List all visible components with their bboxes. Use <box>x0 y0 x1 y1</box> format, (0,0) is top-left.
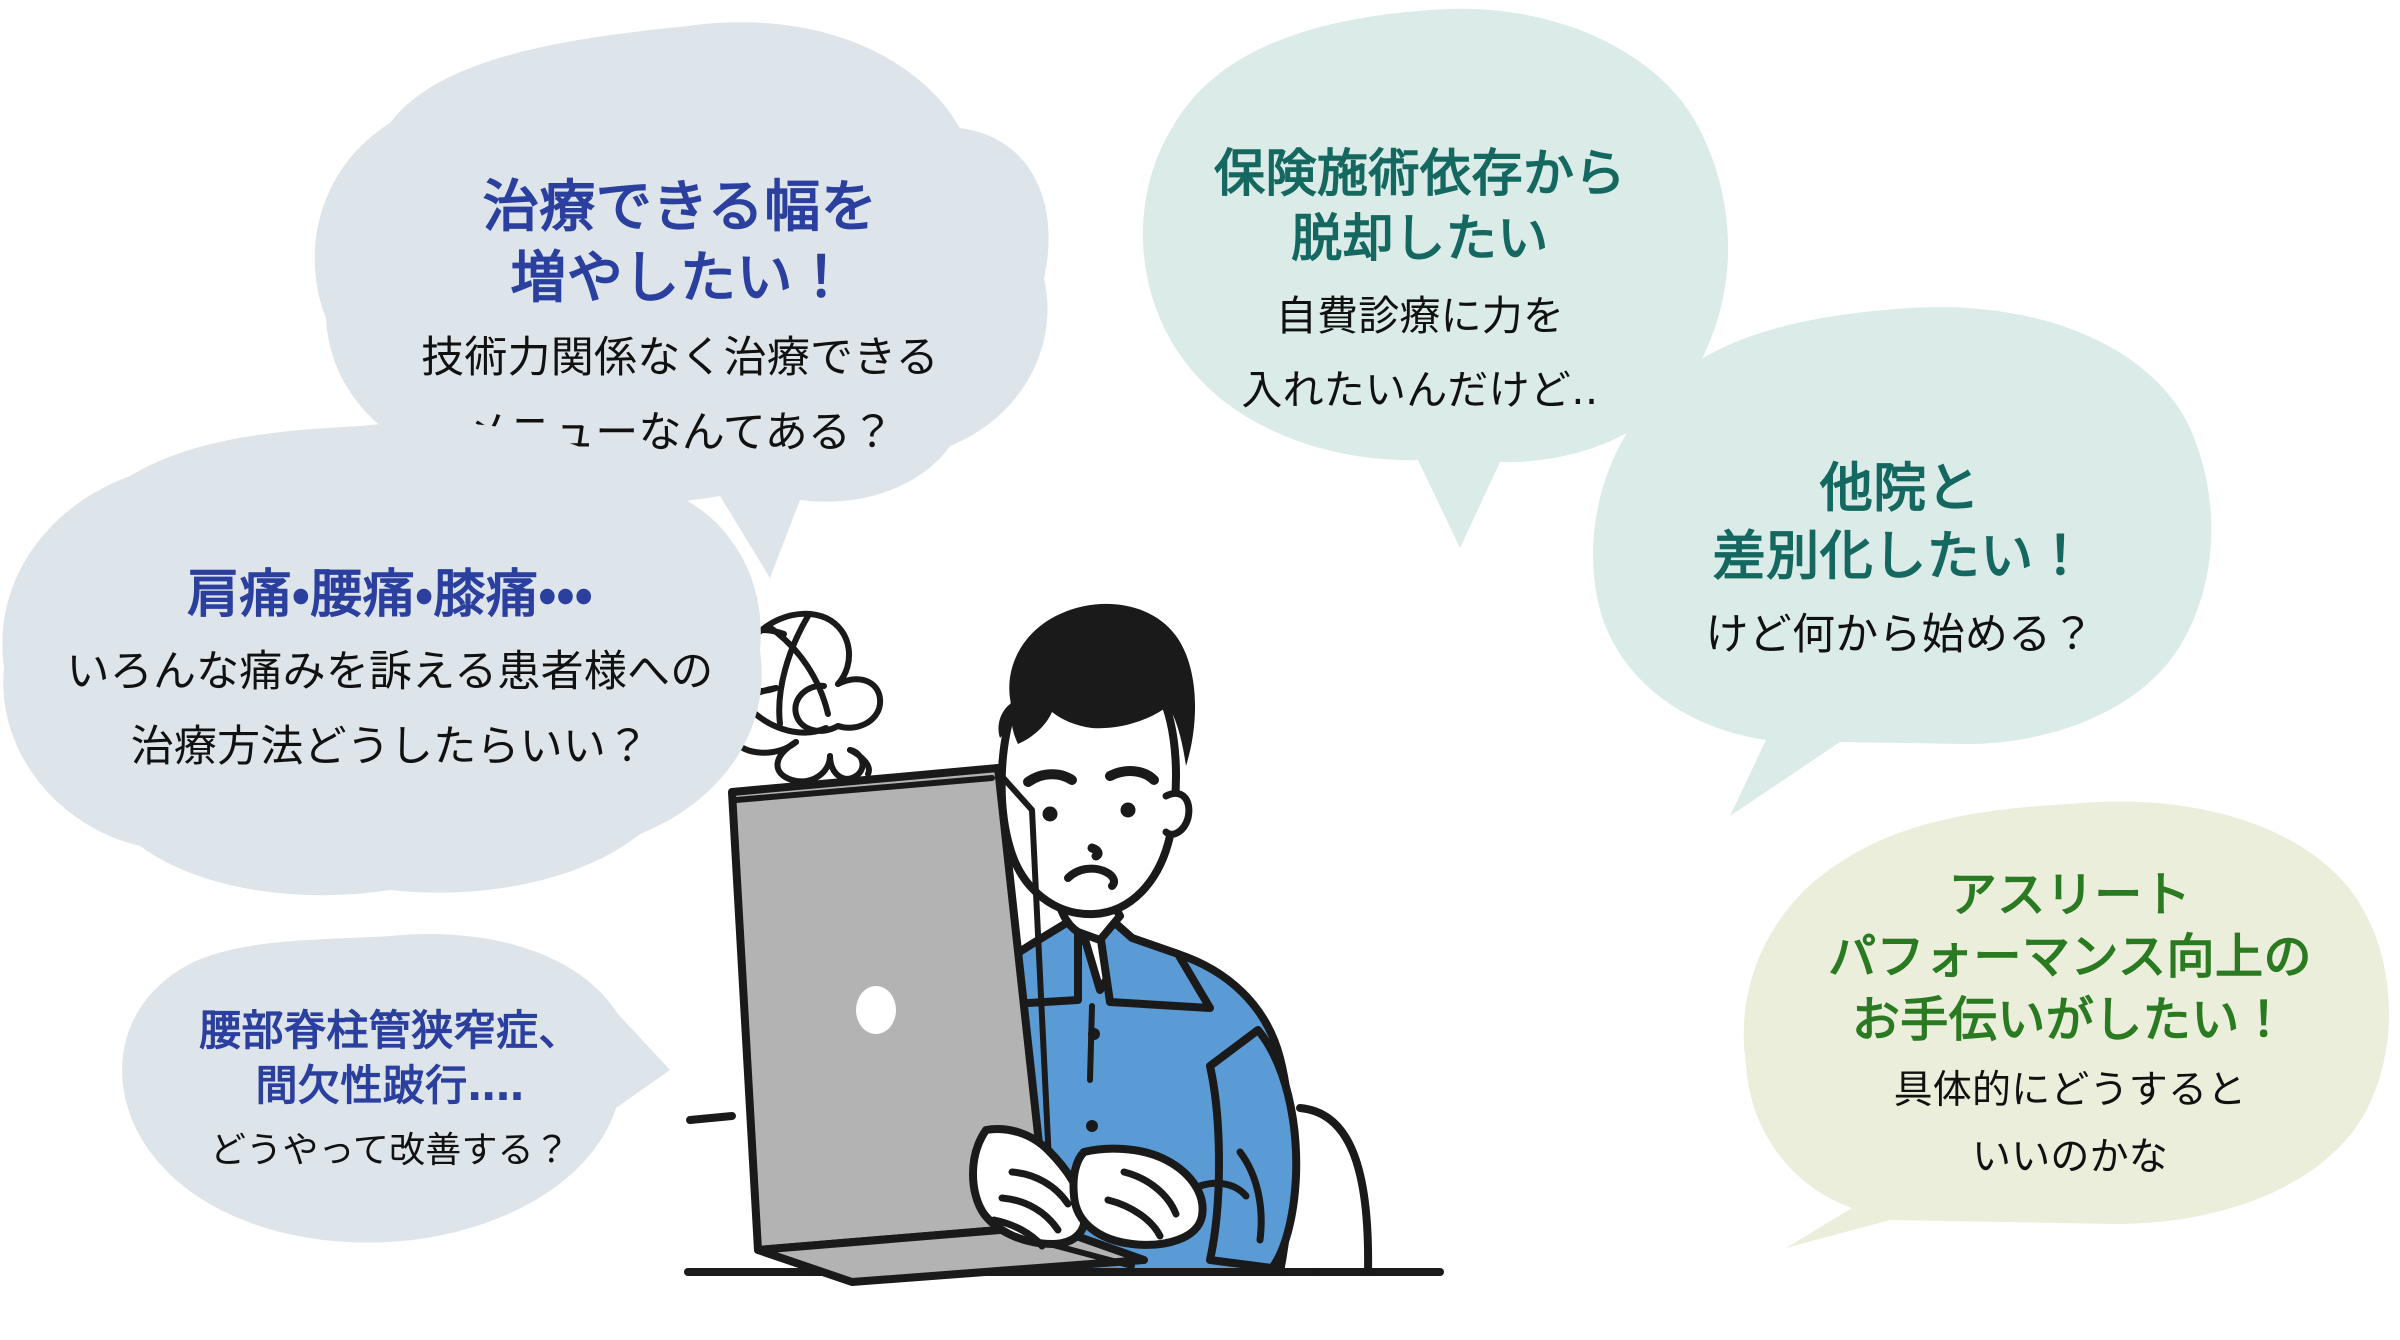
speech-bubble-pain: 肩痛・腰痛・膝痛・・・ いろんな痛みを訴える患者様への 治療方法どうしたらいい？ <box>0 420 780 920</box>
poster-canvas: 治療できる幅を 増やしたい！ 技術力関係なく治療できる メニューなんてある？ 保… <box>0 0 2400 1340</box>
bubble-athlete-headline-line-3: お手伝いがしたい！ <box>1750 990 2390 1052</box>
bubble-athlete-headline-line-2: パフォーマンス向上の <box>1750 927 2390 989</box>
worried-man-at-laptop-illustration <box>680 560 1560 1340</box>
bubble-range-headline-line-2: 増やしたい！ <box>310 243 1050 314</box>
shirt-button-top <box>1088 1028 1100 1040</box>
speech-bubble-stenosis: 腰部脊柱管狭窄症、 間欠性跛行‥‥ どうやって改善する？ <box>110 930 670 1250</box>
bubble-athlete-subline-line-1: 具体的にどうすると <box>1750 1064 2390 1119</box>
bubble-athlete-headline-line-1: アスリート <box>1750 865 2390 927</box>
shirt-button-mid <box>1086 1120 1098 1132</box>
bubble-athlete-subline-line-2: いいのかな <box>1750 1131 2390 1186</box>
bubble-insurance-headline-line-2: 脱却したい <box>1110 206 1730 271</box>
bubble-athlete-text: アスリート パフォーマンス向上の お手伝いがしたい！ 具体的にどうすると いいの… <box>1740 865 2400 1185</box>
bubble-stenosis-text: 腰部脊柱管狭窄症、 間欠性跛行‥‥ どうやって改善する？ <box>110 1004 670 1176</box>
bubble-pain-text: 肩痛・腰痛・膝痛・・・ いろんな痛みを訴える患者様への 治療方法どうしたらいい？ <box>0 562 780 779</box>
laptop-logo-icon <box>856 986 896 1034</box>
bubble-stenosis-subline-line-1: どうやって改善する？ <box>120 1125 660 1175</box>
bubble-range-headline-line-1: 治療できる幅を <box>310 172 1050 243</box>
bubble-pain-subline-line-1: いろんな痛みを訴える患者様への <box>10 642 770 703</box>
bubble-insurance-headline-line-1: 保険施術依存から <box>1110 141 1730 206</box>
bubble-pain-headline-line-1: 肩痛・腰痛・膝痛・・・ <box>10 562 770 629</box>
ear <box>1166 793 1189 834</box>
chair-back <box>1300 1108 1368 1272</box>
shirt-placket <box>1090 1006 1092 1080</box>
speech-bubble-differentiate: 他院と 差別化したい！ けど何から始める？ <box>1580 300 2220 820</box>
bubble-stenosis-headline-line-1: 腰部脊柱管狭窄症、 <box>120 1004 660 1059</box>
bubble-differentiate-text: 他院と 差別化したい！ けど何から始める？ <box>1580 455 2220 665</box>
bubble-differentiate-subline-line-1: けど何から始める？ <box>1590 605 2210 665</box>
bubble-differentiate-headline-line-2: 差別化したい！ <box>1590 523 2210 591</box>
bubble-pain-subline-line-2: 治療方法どうしたらいい？ <box>10 717 770 778</box>
speech-bubble-athlete: アスリート パフォーマンス向上の お手伝いがしたい！ 具体的にどうすると いいの… <box>1740 800 2400 1250</box>
bubble-range-subline-line-1: 技術力関係なく治療できる <box>310 328 1050 389</box>
bubble-stenosis-headline-line-2: 間欠性跛行‥‥ <box>120 1059 660 1114</box>
nose <box>1092 848 1098 856</box>
bubble-differentiate-headline-line-1: 他院と <box>1590 455 2210 523</box>
eye-left <box>1043 807 1058 822</box>
eye-right <box>1121 803 1136 818</box>
laptop-hinge-left <box>690 1116 732 1120</box>
